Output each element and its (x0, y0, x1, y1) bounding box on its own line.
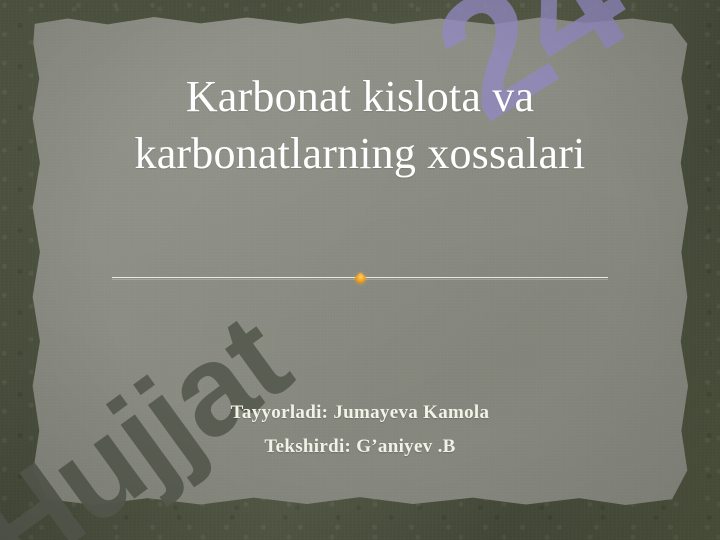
diamond-ornament-icon (354, 272, 367, 285)
subtitle-line-reviewer: Tekshirdi: G’aniyev .B (40, 430, 680, 464)
slide-content: Karbonat kislota va karbonatlarning xoss… (0, 0, 720, 540)
subtitle-line-author: Tayyorladi: Jumayeva Kamola (40, 396, 680, 430)
slide-title-line-1: Karbonat kislota va (40, 68, 680, 125)
slide-title-line-2: karbonatlarning xossalari (40, 125, 680, 182)
slide-subtitle: Tayyorladi: Jumayeva Kamola Tekshirdi: G… (40, 396, 680, 464)
slide-title: Karbonat kislota va karbonatlarning xoss… (40, 68, 680, 182)
presentation-slide: 24 Hujjat Karbonat kislota va karbonatla… (0, 0, 720, 540)
title-divider (112, 277, 608, 279)
